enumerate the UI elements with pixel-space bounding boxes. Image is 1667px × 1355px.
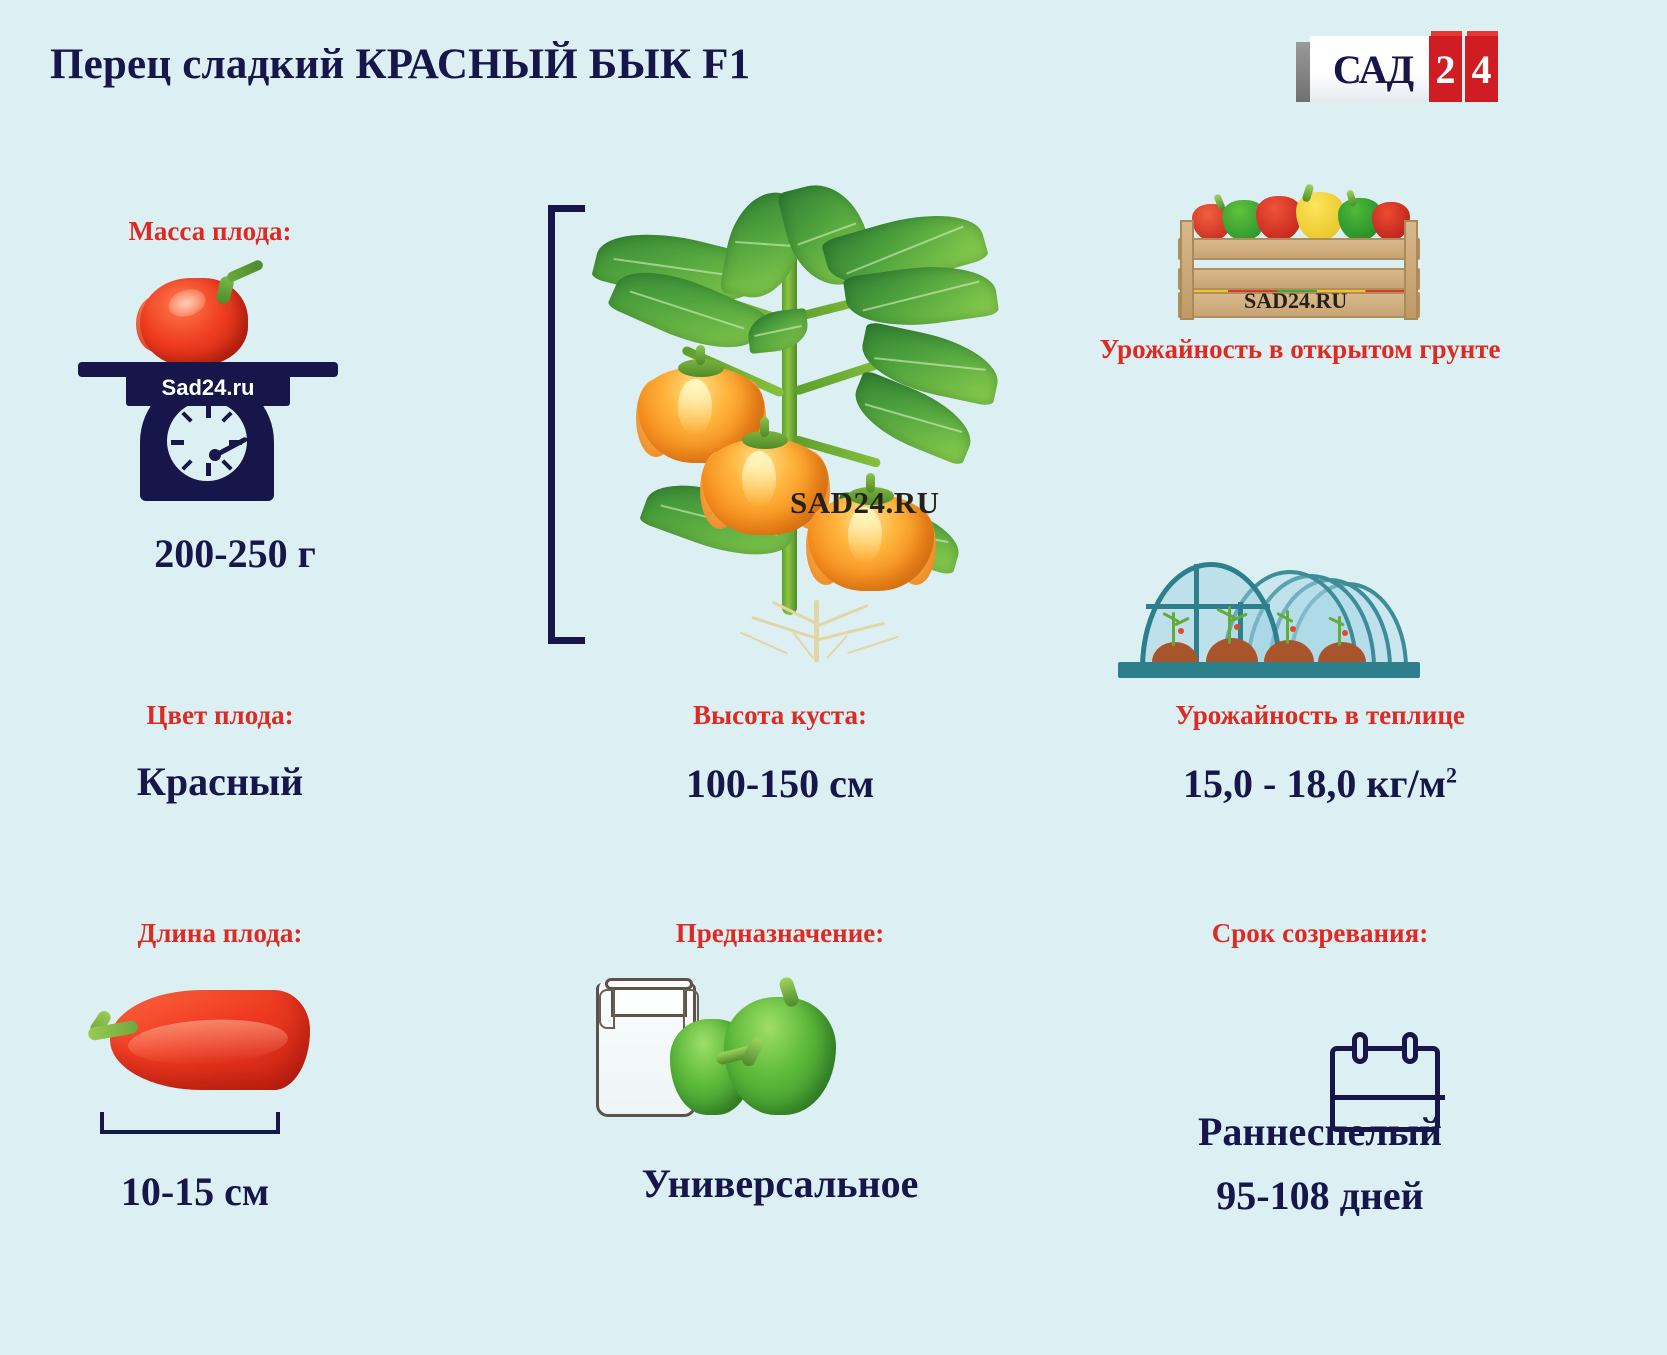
bush-height-value: 100-150 см (540, 760, 1020, 807)
logo-brand-text: САД (1318, 40, 1428, 98)
purpose-value: Универсальное (540, 1160, 1020, 1207)
plant-roots (730, 600, 910, 670)
infographic-page: Перец сладкий КРАСНЫЙ БЫК F1 САД 2 4 Мас… (0, 0, 1667, 1355)
page-title: Перец сладкий КРАСНЫЙ БЫК F1 (50, 40, 750, 89)
ripening-label: Срок созревания: (1010, 918, 1630, 949)
fruit-mass-label: Масса плода: (0, 216, 420, 247)
logo-digit-2: 2 (1429, 36, 1462, 102)
yield-greenhouse-label: Урожайность в теплице (1010, 700, 1630, 731)
calendar-ring (1402, 1032, 1418, 1064)
yield-open-ground-label: Урожайность в открытом грунте (1010, 334, 1590, 365)
fruit-color-value: Красный (0, 758, 440, 805)
kitchen-scale-with-red-pepper-icon: Sad24.ru (78, 258, 338, 518)
crate-peppers-top (1192, 192, 1407, 240)
crate-watermark: SAD24.RU (1244, 288, 1347, 314)
calendar-ring (1352, 1032, 1368, 1064)
fruit-length-value: 10-15 см (0, 1168, 390, 1215)
jar-and-green-peppers-icon (596, 975, 866, 1120)
scale-watermark: Sad24.ru (162, 375, 255, 401)
logo-digit-4: 4 (1465, 36, 1498, 102)
yield-greenhouse-value-main: 15,0 - 18,0 кг/м (1183, 761, 1446, 806)
ripening-value-line1: Раннеспелый (1010, 1108, 1630, 1155)
greenhouse-icon (1118, 558, 1420, 678)
greenhouse-base (1118, 662, 1420, 678)
plant-stem (782, 225, 797, 615)
sad24-logo[interactable]: САД 2 4 (1296, 36, 1486, 106)
fruit-mass-value: 200-250 г (0, 530, 470, 577)
pepper-plant-icon: SAD24.RU (560, 185, 1020, 665)
scale-dial (160, 394, 254, 488)
fruit-color-label: Цвет плода: (0, 700, 440, 731)
length-measure-bracket (100, 1112, 280, 1134)
wooden-crate-with-peppers-icon: SAD24.RU (1178, 192, 1420, 320)
plant-watermark: SAD24.RU (790, 485, 940, 521)
calendar-header-line (1335, 1095, 1445, 1100)
yield-greenhouse-value: 15,0 - 18,0 кг/м2 (1010, 760, 1630, 807)
yield-greenhouse-value-exponent: 2 (1446, 763, 1457, 788)
scale-brand-plate: Sad24.ru (126, 370, 290, 406)
red-pepper-icon (140, 260, 265, 368)
red-pepper-horizontal-icon (88, 980, 323, 1100)
purpose-label: Предназначение: (540, 918, 1020, 949)
bush-height-label: Высота куста: (540, 700, 1020, 731)
height-bracket (548, 205, 585, 644)
fruit-length-label: Длина плода: (0, 918, 440, 949)
ripening-value-line2: 95-108 дней (1010, 1172, 1630, 1219)
